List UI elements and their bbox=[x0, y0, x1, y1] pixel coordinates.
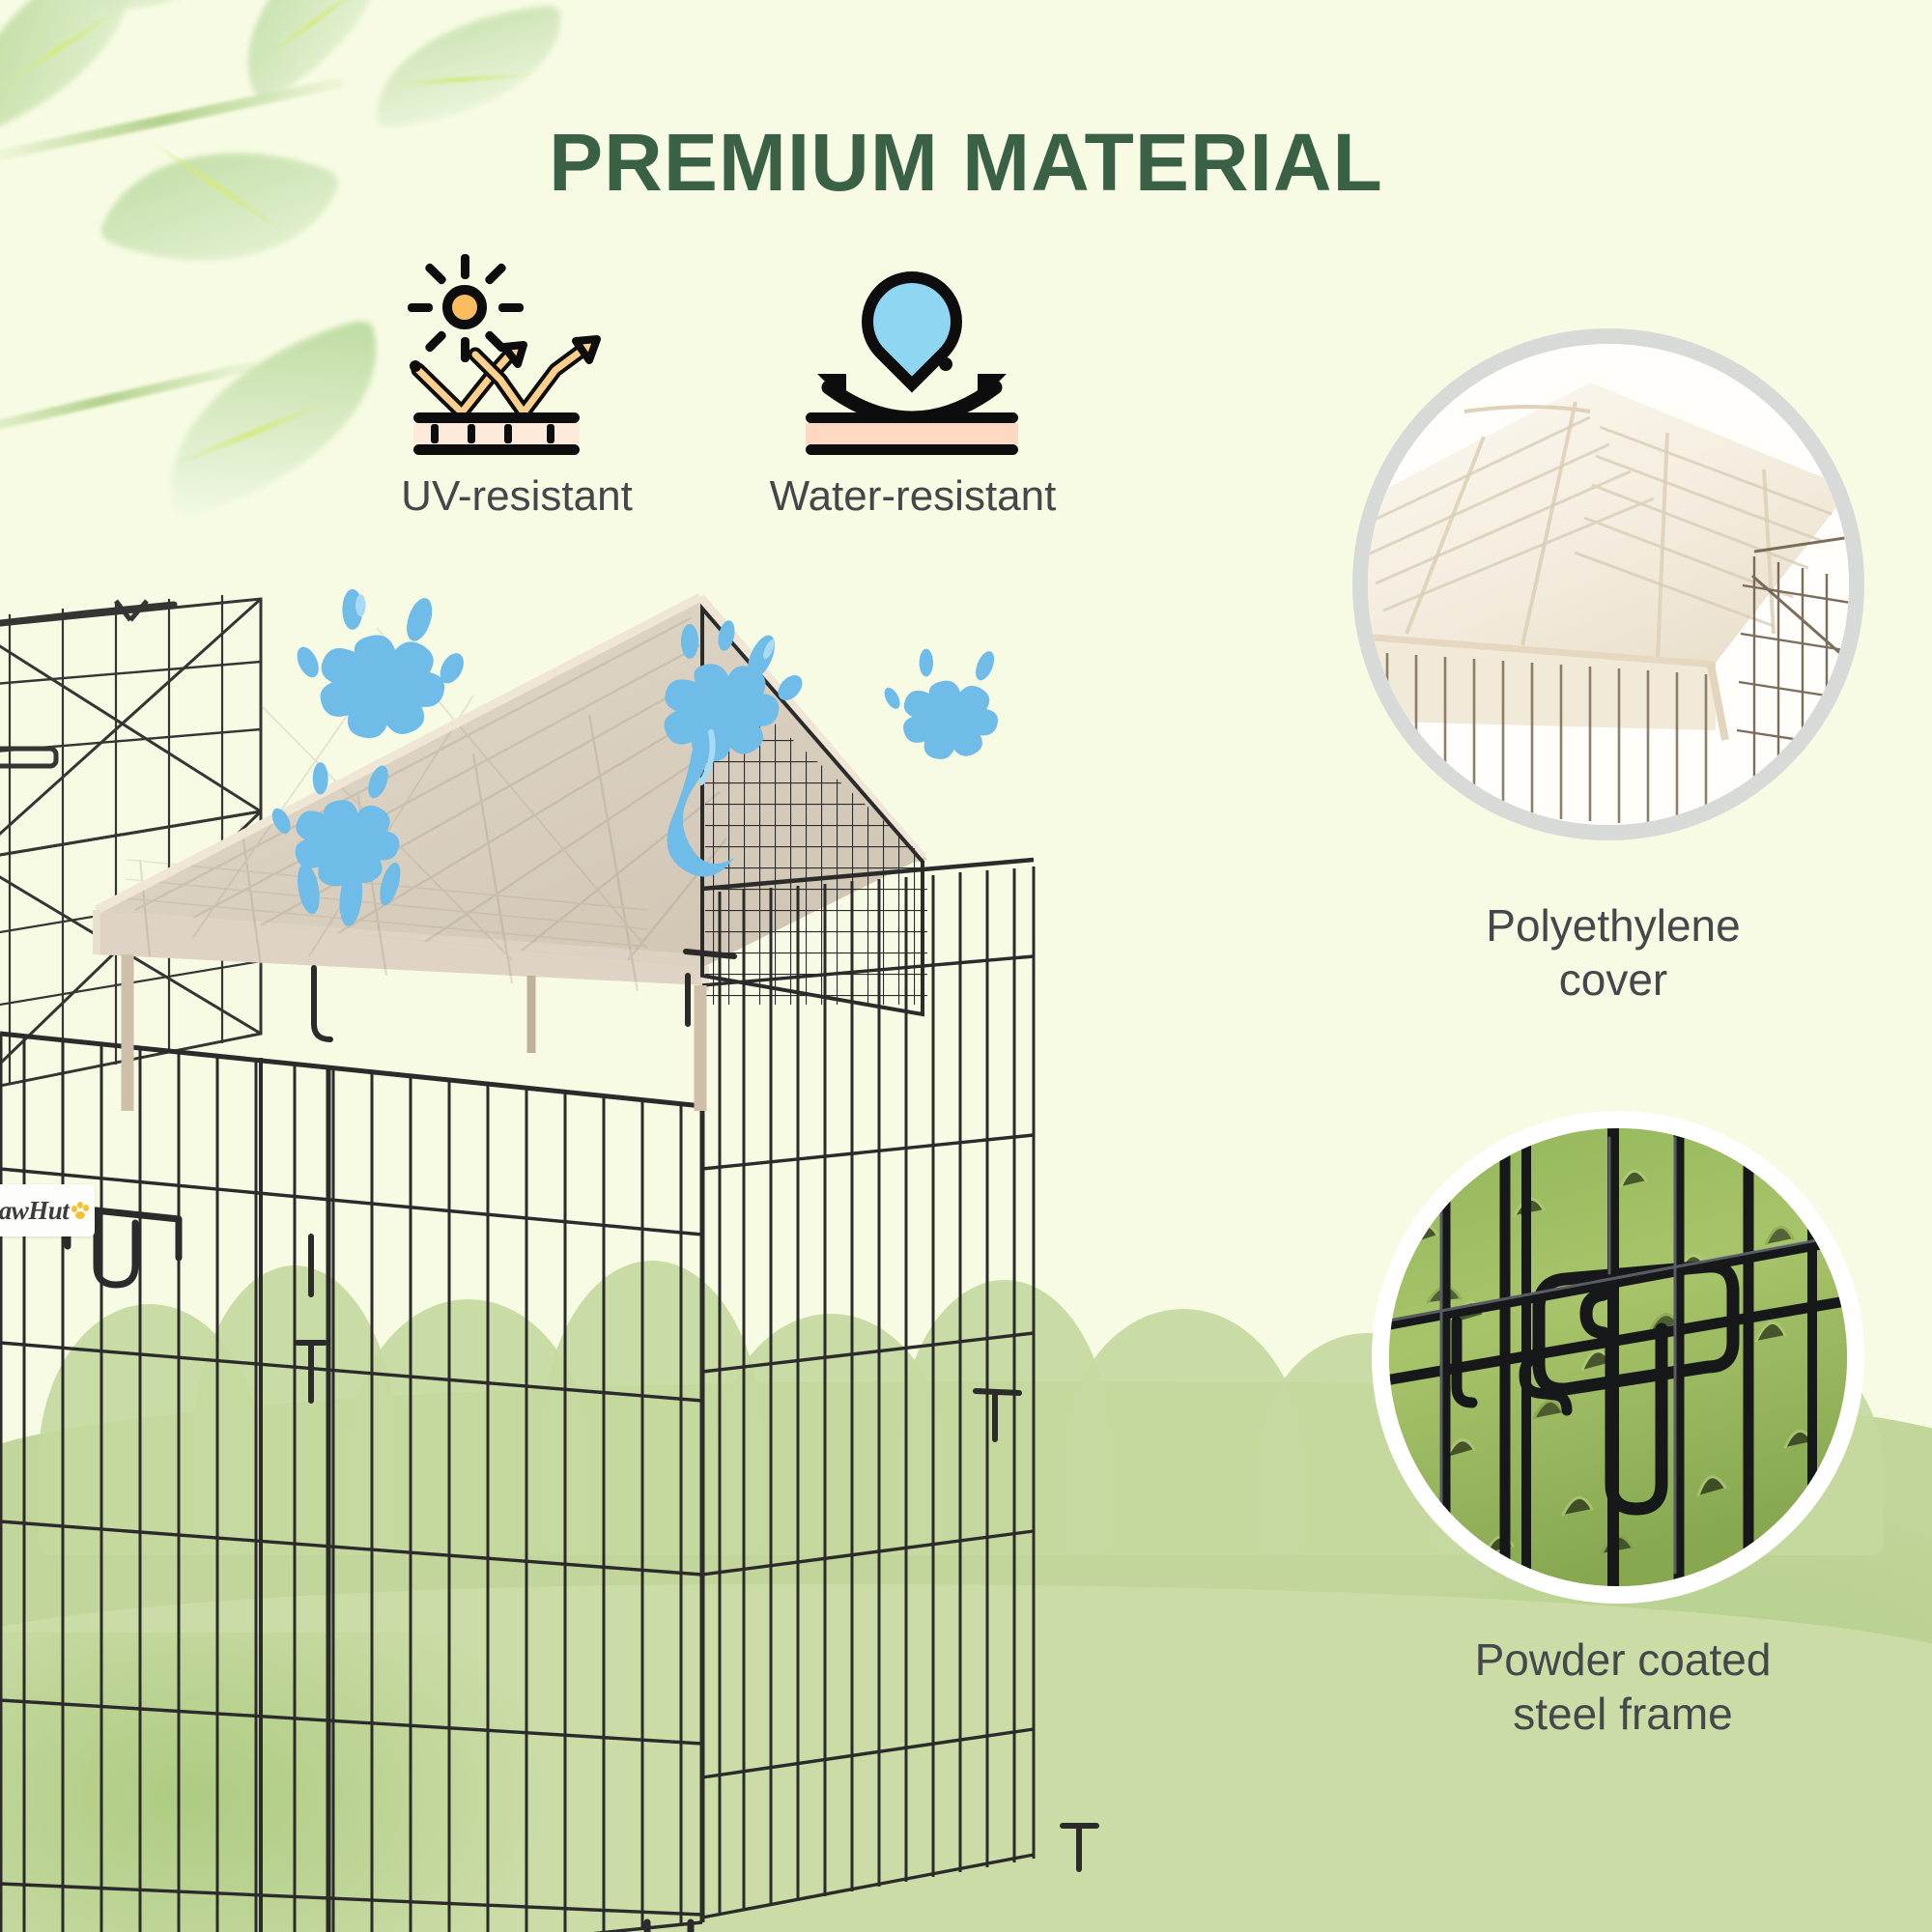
inset-caption-polyethylene: Polyethylene cover bbox=[1352, 898, 1874, 1007]
fabric-layer-top bbox=[413, 412, 580, 423]
product-illustration bbox=[0, 570, 1198, 1932]
fabric-layer-bottom bbox=[806, 444, 1018, 455]
feature-uv-resistant: UV-resistant bbox=[357, 266, 676, 526]
canopy-cover-closeup bbox=[1368, 344, 1851, 827]
fabric-layer-top bbox=[806, 412, 1018, 423]
inset-photo-steel-frame bbox=[1372, 1111, 1864, 1604]
pawhut-logo-badge: PawHut bbox=[0, 1184, 95, 1236]
inset-photo-polyethylene-cover bbox=[1352, 328, 1864, 840]
water-splash bbox=[881, 648, 998, 758]
sun-rays-fabric-icon bbox=[357, 266, 676, 459]
fabric-tick bbox=[504, 424, 512, 443]
caption-line-1: Polyethylene bbox=[1352, 898, 1874, 952]
fabric-layer-body bbox=[806, 423, 1018, 444]
product-feature-banner: PREMIUM MATERIAL bbox=[0, 0, 1932, 1932]
water-splash bbox=[293, 589, 469, 738]
water-droplet-repel-icon bbox=[753, 266, 1072, 459]
fabric-tick bbox=[431, 424, 439, 443]
feature-icon-row: UV-resistant Water-resistant bbox=[357, 266, 1072, 526]
feature-label-water: Water-resistant bbox=[753, 472, 1072, 521]
leaf bbox=[0, 0, 169, 133]
caption-line-1: Powder coated bbox=[1352, 1633, 1893, 1687]
caption-line-2: steel frame bbox=[1352, 1687, 1893, 1741]
leaf bbox=[367, 5, 570, 128]
paw-print-icon bbox=[71, 1200, 90, 1221]
front-wall-mesh bbox=[0, 1034, 702, 1932]
fabric-tick bbox=[468, 424, 475, 443]
caption-line-2: cover bbox=[1352, 952, 1874, 1007]
page-title: PREMIUM MATERIAL bbox=[0, 116, 1932, 210]
right-wall-mesh bbox=[702, 860, 1038, 1918]
inset-caption-steel-frame: Powder coated steel frame bbox=[1352, 1633, 1893, 1741]
fabric-layer-bottom bbox=[413, 444, 580, 455]
covered-chicken-run-pen bbox=[0, 570, 1198, 1932]
wire-frame-latch-closeup bbox=[1389, 1128, 1853, 1592]
feature-label-uv: UV-resistant bbox=[357, 472, 676, 521]
brand-name: PawHut bbox=[0, 1196, 69, 1226]
fabric-tick bbox=[547, 424, 554, 443]
feature-water-resistant: Water-resistant bbox=[753, 266, 1072, 526]
